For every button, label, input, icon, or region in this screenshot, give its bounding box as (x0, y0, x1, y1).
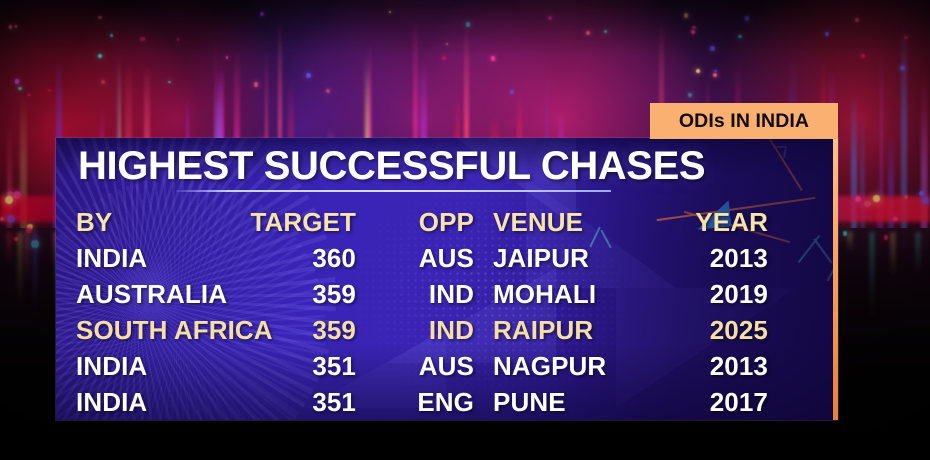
table-row: INDIA 351 ENG PUNE 2017 (56, 386, 838, 420)
cell-target: 359 (206, 278, 356, 310)
cell-year: 2017 (646, 386, 768, 418)
column-header-venue: VENUE (493, 206, 583, 238)
cell-opp: ENG (374, 386, 474, 418)
table-row-highlighted: SOUTH AFRICA 359 IND RAIPUR 2025 (56, 314, 838, 350)
cell-by: INDIA (76, 350, 147, 382)
table-row: AUSTRALIA 359 IND MOHALI 2019 (56, 278, 838, 314)
cell-year: 2025 (646, 314, 768, 346)
table-header-row: BY TARGET OPP VENUE YEAR (56, 206, 838, 242)
broadcast-graphic: ODIs IN INDIA HIGHEST SUCCESSFUL CHASES (0, 0, 930, 460)
column-header-by: BY (76, 206, 112, 238)
cell-opp: AUS (374, 350, 474, 382)
cell-target: 359 (206, 314, 356, 346)
cell-by: AUSTRALIA (76, 278, 227, 310)
cell-venue: NAGPUR (493, 350, 606, 382)
cell-venue: PUNE (493, 386, 566, 418)
category-badge-label: ODIs IN INDIA (679, 110, 809, 133)
cell-by: INDIA (76, 242, 147, 274)
cell-target: 351 (206, 350, 356, 382)
table-row: INDIA 360 AUS JAIPUR 2013 (56, 242, 838, 278)
cell-target: 351 (206, 386, 356, 418)
column-header-year: YEAR (646, 206, 768, 238)
cell-year: 2013 (646, 350, 768, 382)
cell-target: 360 (206, 242, 356, 274)
cell-opp: AUS (374, 242, 474, 274)
cell-year: 2019 (646, 278, 768, 310)
cell-opp: IND (374, 314, 474, 346)
cell-year: 2013 (646, 242, 768, 274)
cell-opp: IND (374, 278, 474, 310)
cell-venue: RAIPUR (493, 314, 593, 346)
column-header-opp: OPP (374, 206, 474, 238)
panel-title: HIGHEST SUCCESSFUL CHASES (78, 144, 705, 189)
table-row: INDIA 351 AUS NAGPUR 2013 (56, 350, 838, 386)
column-header-target: TARGET (206, 206, 356, 238)
cell-venue: JAIPUR (493, 242, 589, 274)
category-badge: ODIs IN INDIA (650, 103, 838, 139)
cell-venue: MOHALI (493, 278, 596, 310)
stats-panel: HIGHEST SUCCESSFUL CHASES BY TARGET OPP … (56, 138, 838, 420)
cell-by: INDIA (76, 386, 147, 418)
title-underline (176, 190, 611, 192)
